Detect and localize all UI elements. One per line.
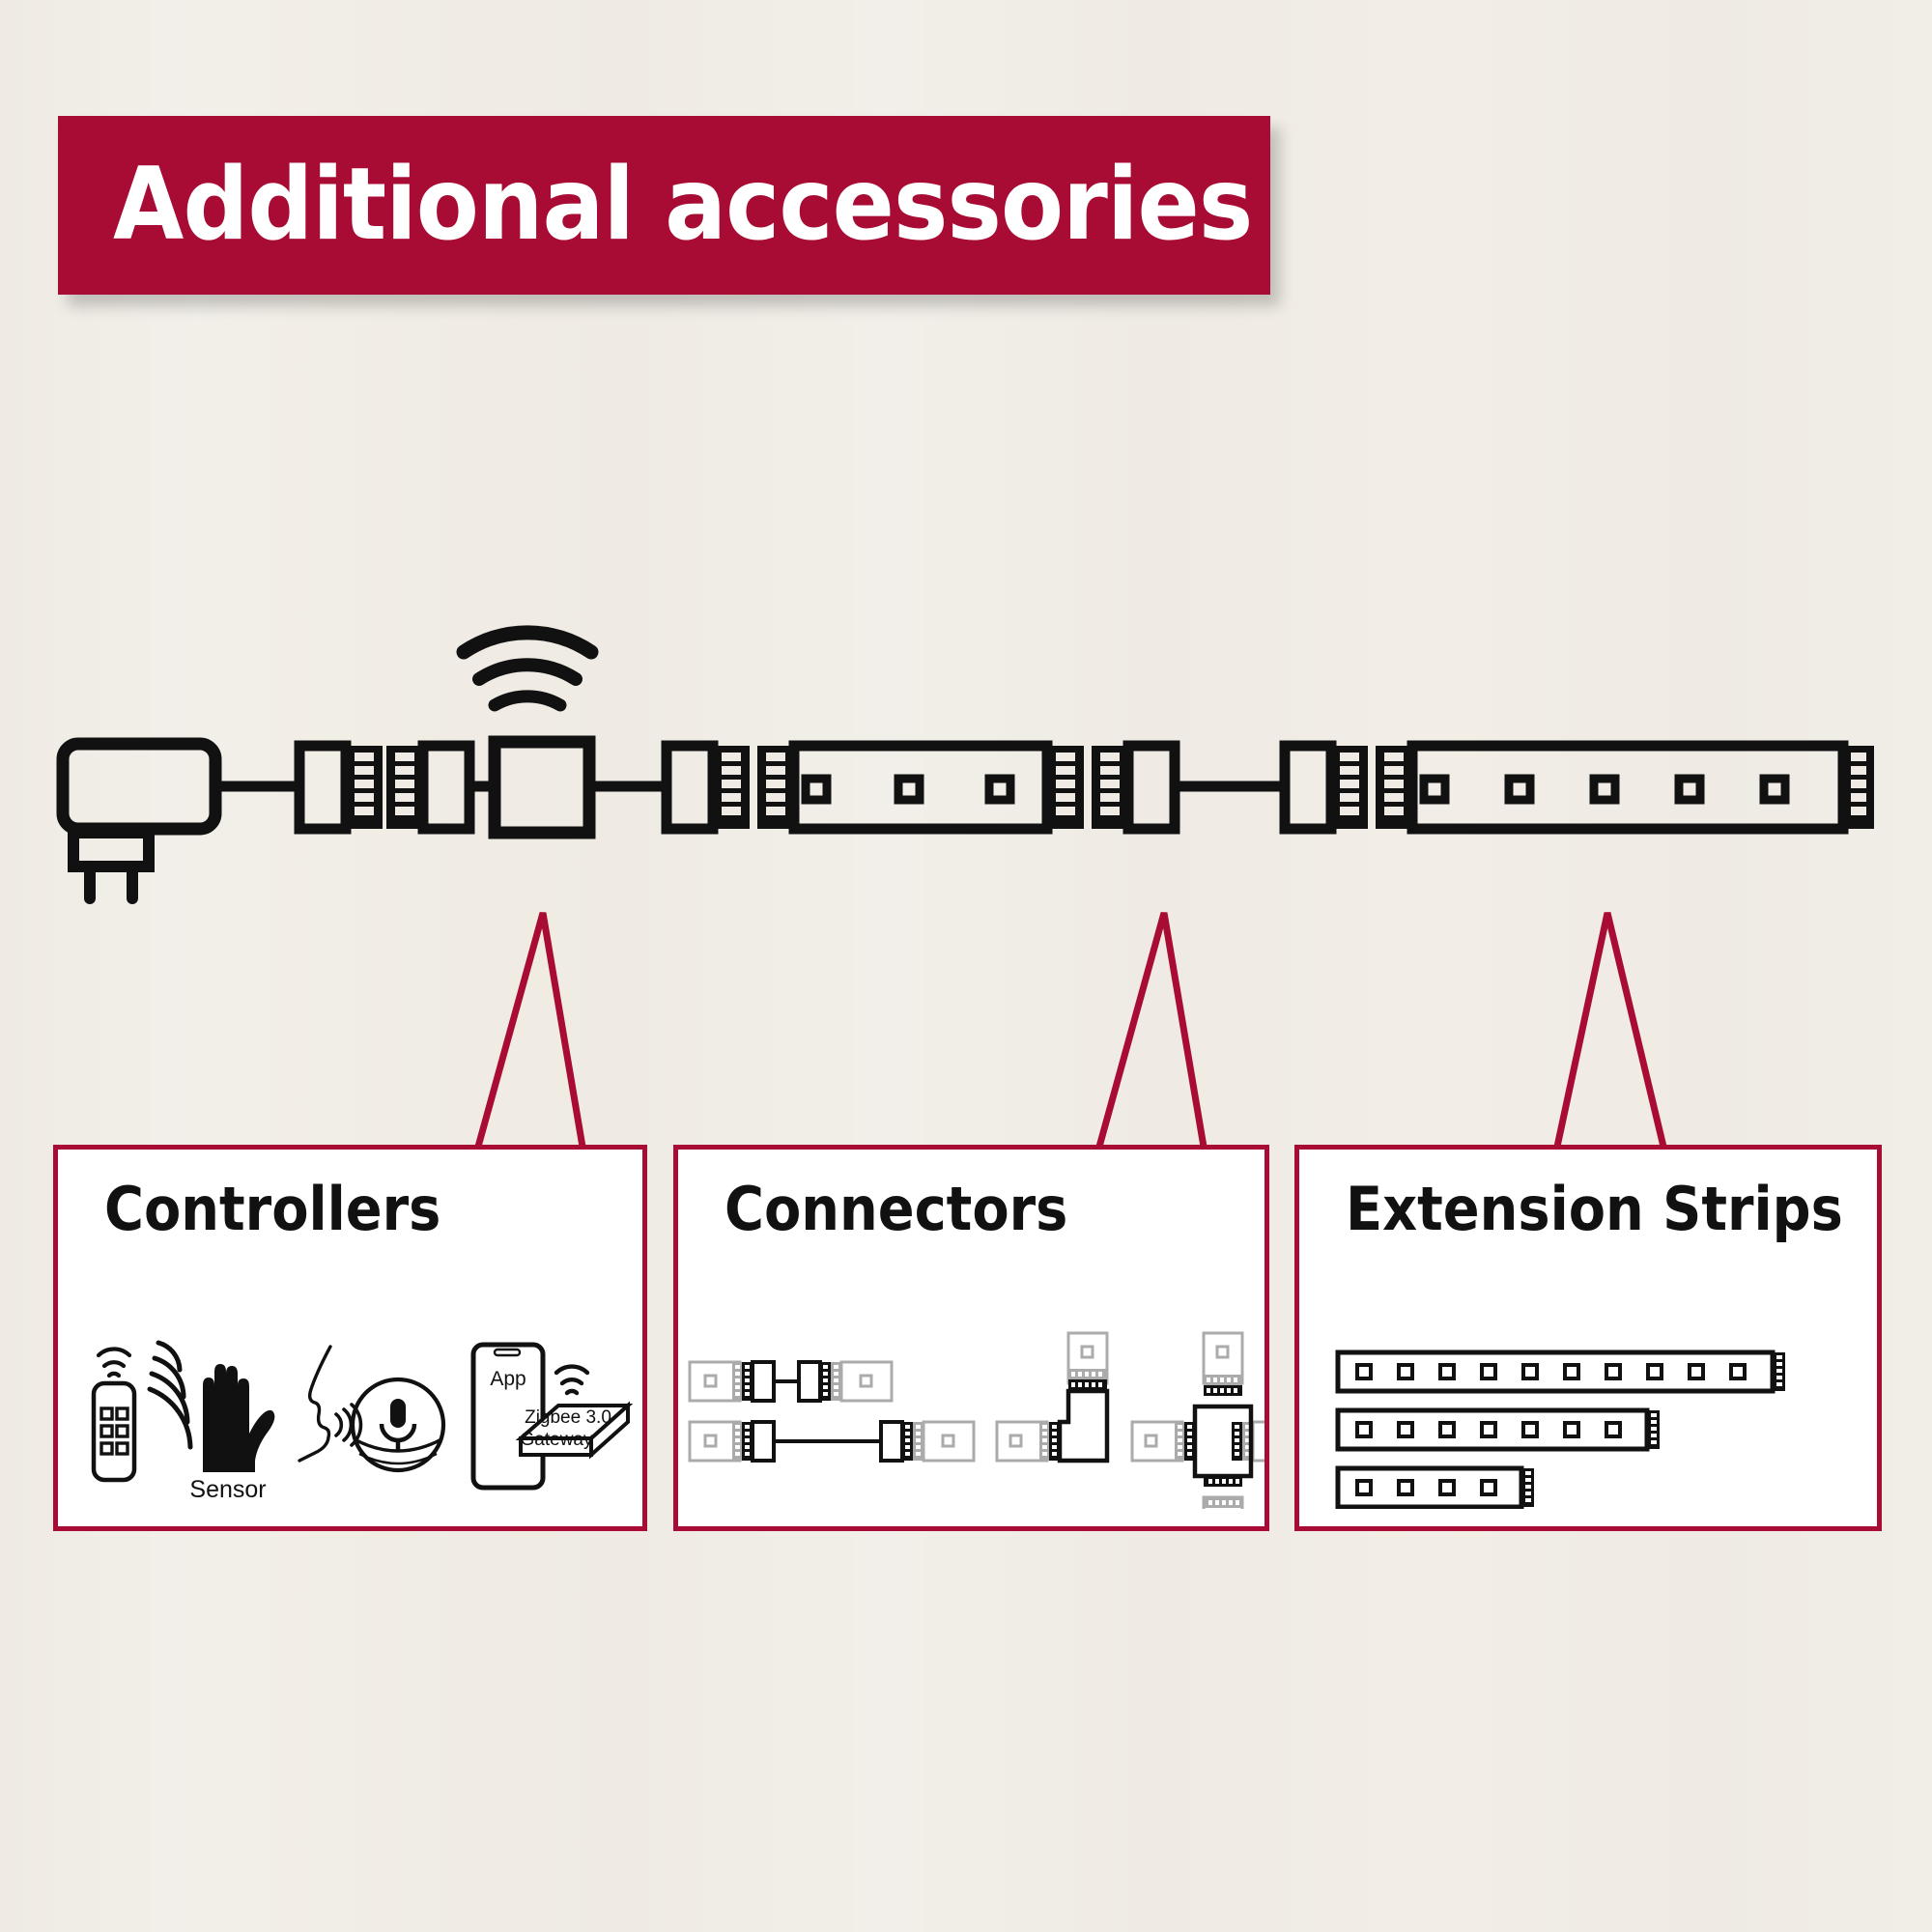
extension-strip-long-icon — [1338, 1352, 1785, 1391]
callout-connectors[interactable]: Connectors — [673, 1145, 1269, 1531]
callout-extensions[interactable]: Extension Strips — [1294, 1145, 1882, 1531]
strip-connector-icon-4 — [1285, 746, 1412, 829]
callout-extensions-title: Extension Strips — [1346, 1177, 1843, 1242]
callout-pointers — [478, 913, 1663, 1147]
zigbee-line2: Gateway — [521, 1430, 593, 1450]
corner-connector-icon — [997, 1333, 1107, 1461]
controller-box-icon — [495, 742, 667, 833]
motion-sensor-hand-icon — [150, 1343, 274, 1472]
strip-connector-icon-1 — [299, 746, 495, 829]
remote-control-icon — [94, 1350, 134, 1480]
page-title: Additional accessories — [58, 156, 1252, 255]
extension-strip-medium-icon — [1338, 1410, 1660, 1449]
straight-connector-long-icon — [690, 1422, 974, 1461]
straight-connector-short-icon — [690, 1362, 892, 1401]
power-supply-icon — [63, 744, 299, 898]
callout-connectors-body — [678, 1325, 1264, 1509]
led-strip-icon-1 — [794, 746, 1047, 829]
extension-strip-short-icon — [1338, 1468, 1534, 1507]
zigbee-line1: Zigbee 3.0 — [525, 1407, 611, 1428]
led-strip-icon-2 — [1412, 746, 1874, 829]
title-banner: Additional accessories — [58, 116, 1270, 295]
strip-connector-icon-2 — [667, 746, 794, 829]
wifi-icon — [464, 633, 591, 705]
callout-extensions-body — [1299, 1325, 1877, 1509]
strip-connector-icon-3 — [1047, 746, 1285, 829]
callout-connectors-title: Connectors — [724, 1177, 1067, 1242]
app-label: App — [490, 1368, 526, 1390]
sensor-label: Sensor — [189, 1476, 266, 1503]
callout-controllers-body: Sensor App — [58, 1325, 642, 1509]
voice-assistant-speaker-icon — [299, 1347, 443, 1470]
cross-connector-icon — [1132, 1333, 1264, 1509]
callout-controllers[interactable]: Controllers — [53, 1145, 647, 1531]
callout-controllers-title: Controllers — [104, 1177, 440, 1242]
